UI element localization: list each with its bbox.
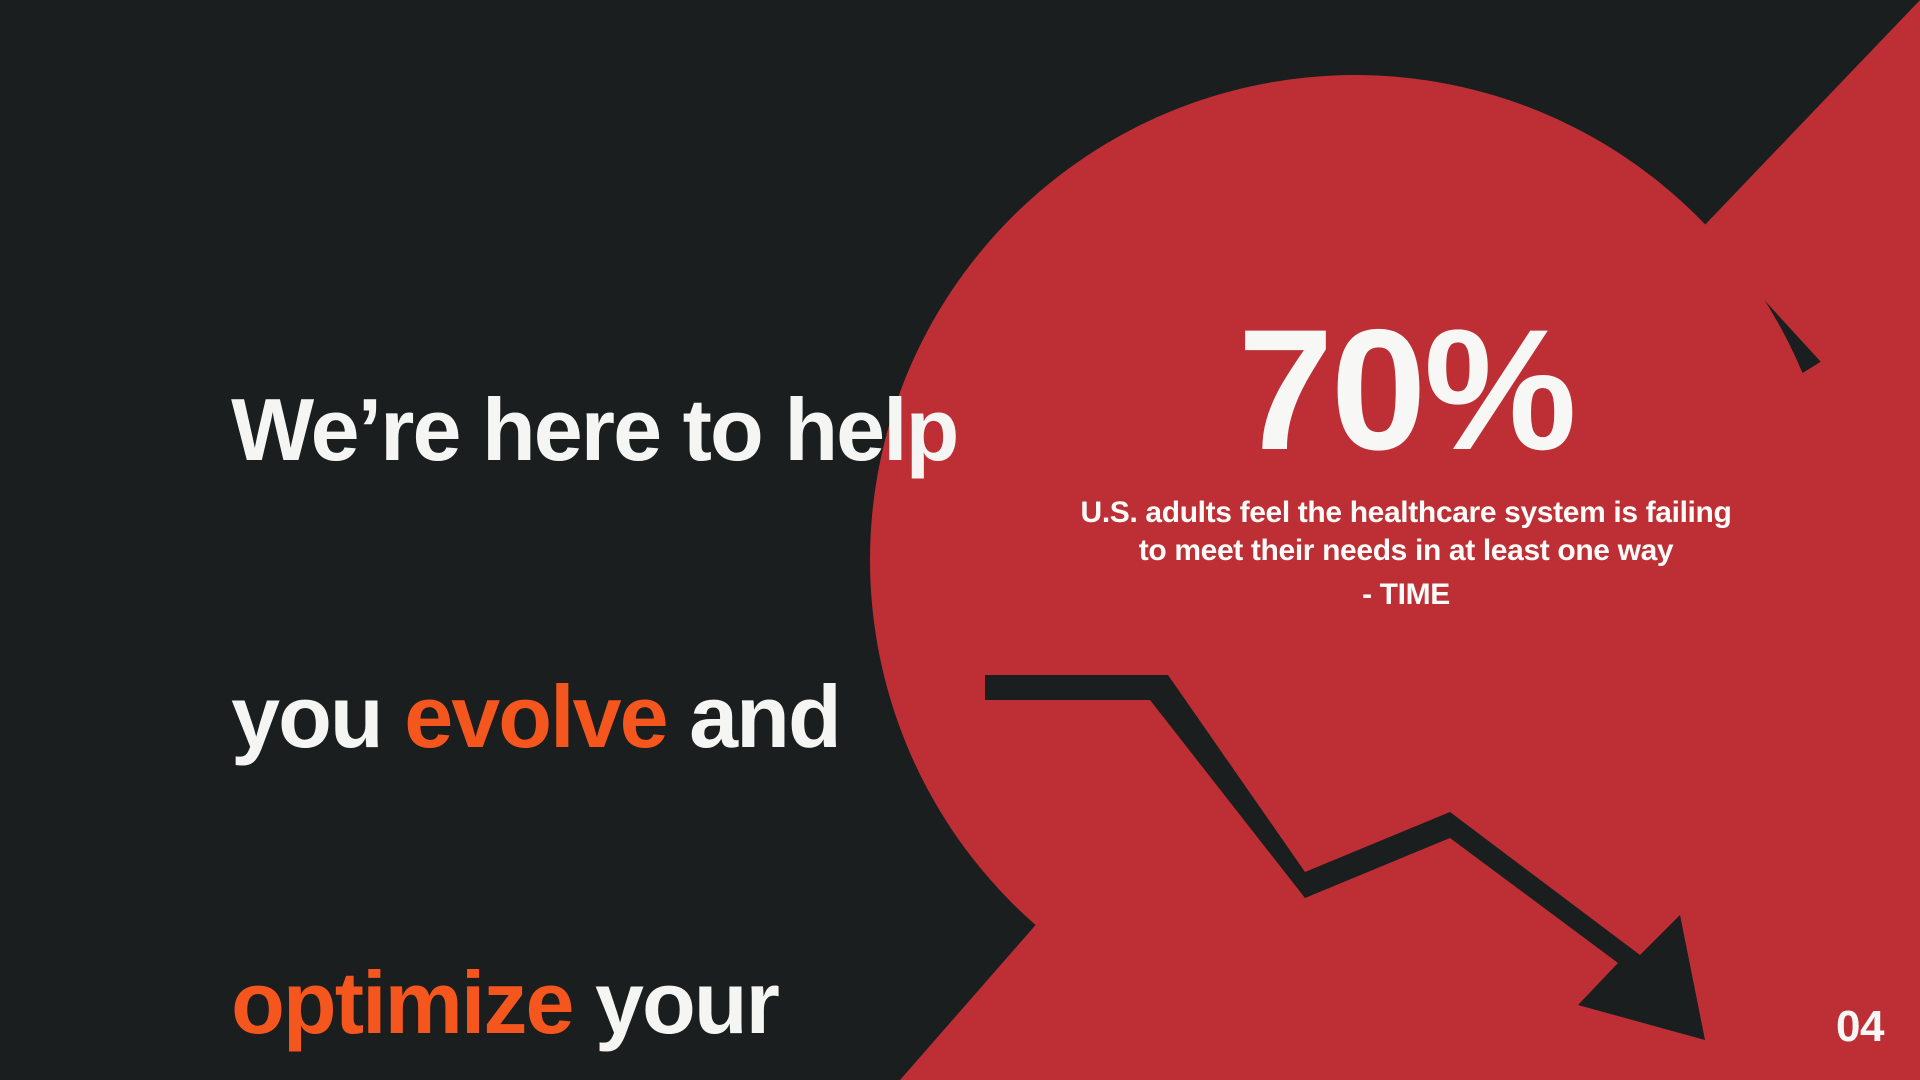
- statistic-caption: U.S. adults feel the healthcare system i…: [1006, 494, 1806, 571]
- headline-line-3: optimize your: [96, 860, 836, 1080]
- headline-line-2: you evolve and: [96, 573, 836, 859]
- slide-headline: We’re here to help you evolve and optimi…: [96, 287, 836, 1080]
- statistic-caption-line-2: to meet their needs in at least one way: [1006, 532, 1806, 570]
- statistic-caption-line-1: U.S. adults feel the healthcare system i…: [1006, 494, 1806, 532]
- headline-text: you: [231, 667, 404, 766]
- headline-text: and: [667, 667, 840, 766]
- headline-accent-evolve: evolve: [404, 667, 666, 766]
- statistic-source-attribution: - TIME: [1006, 576, 1806, 614]
- statistic-value: 70%: [1006, 310, 1806, 472]
- headline-text: We’re here to help: [231, 380, 957, 479]
- presentation-slide: We’re here to help you evolve and optimi…: [0, 0, 1920, 1080]
- headline-accent-optimize: optimize: [231, 953, 572, 1052]
- headline-line-1: We’re here to help: [96, 287, 836, 573]
- statistic-callout: 70% U.S. adults feel the healthcare syst…: [1006, 310, 1806, 615]
- page-number: 04: [1836, 1002, 1884, 1052]
- headline-text: your: [573, 953, 778, 1052]
